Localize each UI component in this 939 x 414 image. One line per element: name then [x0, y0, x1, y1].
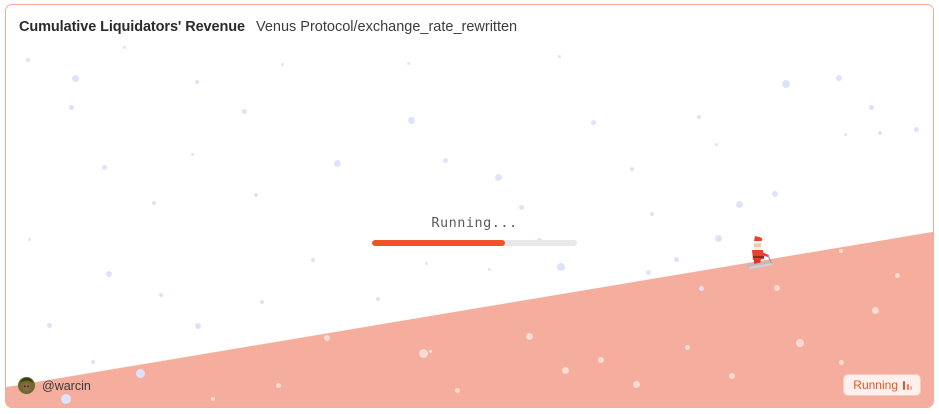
snowflake [61, 394, 71, 404]
snowflake [211, 397, 215, 401]
user-handle: @warcin [42, 379, 91, 393]
loading-scene [6, 5, 933, 407]
snowflake [106, 271, 112, 277]
snowflake [123, 46, 126, 49]
loading-label: Running... [372, 215, 577, 231]
snowflake [633, 381, 640, 388]
snowflake [715, 143, 718, 146]
santa-skiing-sprite [741, 234, 775, 270]
snowflake [407, 62, 410, 65]
snowflake [558, 55, 561, 58]
snowflake [650, 212, 654, 216]
snowflake [872, 307, 879, 314]
snowflake [408, 117, 415, 124]
snowflake [195, 323, 201, 329]
snowflake [376, 297, 380, 301]
snowflake [685, 345, 690, 350]
snowflake [159, 293, 163, 297]
snowflake [72, 75, 79, 82]
snowflake [488, 268, 491, 271]
snowflake [102, 165, 107, 170]
snowflake [26, 58, 30, 62]
snowflake [455, 388, 460, 393]
snowflake [195, 80, 199, 84]
snowflake [715, 235, 722, 242]
snowflake [839, 249, 843, 253]
snowflake [836, 75, 842, 81]
snowflake [260, 300, 264, 304]
snowflake [311, 258, 315, 262]
snowflake [557, 263, 565, 271]
snowflake [646, 270, 651, 275]
status-badge-label: Running [853, 378, 898, 392]
snowflake [47, 323, 52, 328]
snowflake [324, 335, 330, 341]
snowflake [895, 273, 900, 278]
snowflake [28, 238, 31, 241]
snowflake [69, 105, 74, 110]
progress-bar-track [372, 240, 577, 246]
snowflake [91, 360, 95, 364]
snowflake [419, 349, 428, 358]
loading-indicator: Running... [372, 215, 577, 246]
progress-bar-fill [372, 240, 505, 246]
snowflake [562, 367, 569, 374]
snowflake [774, 285, 780, 291]
snowflake [443, 158, 448, 163]
snowflake [796, 339, 804, 347]
snowflake [591, 120, 596, 125]
snowflake [782, 80, 790, 88]
snowflake [598, 357, 604, 363]
snowflake [697, 115, 701, 119]
snowflake [136, 369, 145, 378]
snowflake [729, 373, 735, 379]
snowflake [425, 262, 428, 265]
snowflake [839, 360, 844, 365]
snowflake [674, 257, 679, 262]
snowflake [630, 167, 634, 171]
snowflake [772, 191, 778, 197]
snowflake [869, 105, 874, 110]
snow-slope [6, 5, 933, 407]
snowflake [242, 109, 247, 114]
activity-bars-icon [903, 380, 912, 390]
user-chip[interactable]: @warcin [18, 377, 91, 394]
snowflake [254, 193, 258, 197]
snowflake [878, 131, 882, 135]
snowflake [736, 201, 743, 208]
avatar [18, 377, 35, 394]
snowflake [519, 205, 524, 210]
status-badge[interactable]: Running [843, 374, 921, 396]
snowflake [914, 127, 919, 132]
snowflake [276, 383, 281, 388]
snowflake [191, 153, 194, 156]
snowflake [699, 286, 704, 291]
snowflake [526, 333, 533, 340]
snowflake [152, 201, 156, 205]
snowflake [281, 63, 284, 66]
snowflake [334, 160, 341, 167]
screenshot-root: Cumulative Liquidators' Revenue Venus Pr… [0, 0, 939, 414]
snowflake [429, 350, 432, 353]
snowflake [495, 174, 502, 181]
snowflake [844, 133, 847, 136]
chart-card: Cumulative Liquidators' Revenue Venus Pr… [5, 4, 934, 408]
